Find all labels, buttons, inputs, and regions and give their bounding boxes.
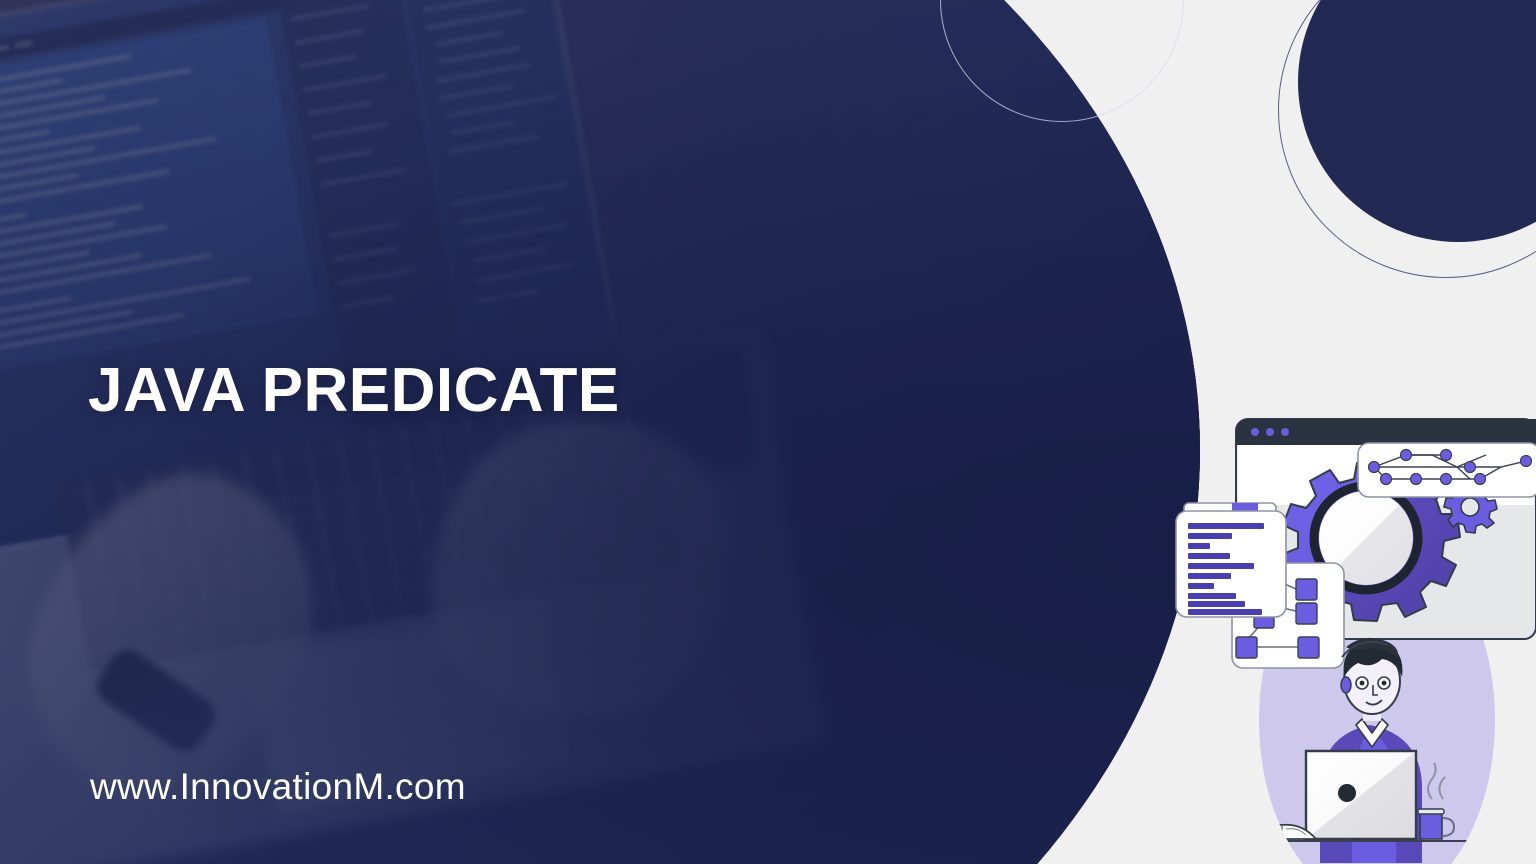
network-diagram-card	[1358, 443, 1536, 497]
laptop-icon	[1306, 751, 1416, 839]
page-title: JAVA PREDICATE	[88, 360, 620, 422]
hero-photo	[0, 0, 1200, 864]
code-document-card	[1176, 503, 1286, 617]
banner-canvas: JAVA PREDICATE www.InnovationM.com	[0, 0, 1536, 864]
site-url-label: www.InnovationM.com	[90, 768, 466, 805]
developer-workflow-illustration	[1170, 395, 1536, 864]
navy-blob-shape	[0, 0, 1200, 864]
